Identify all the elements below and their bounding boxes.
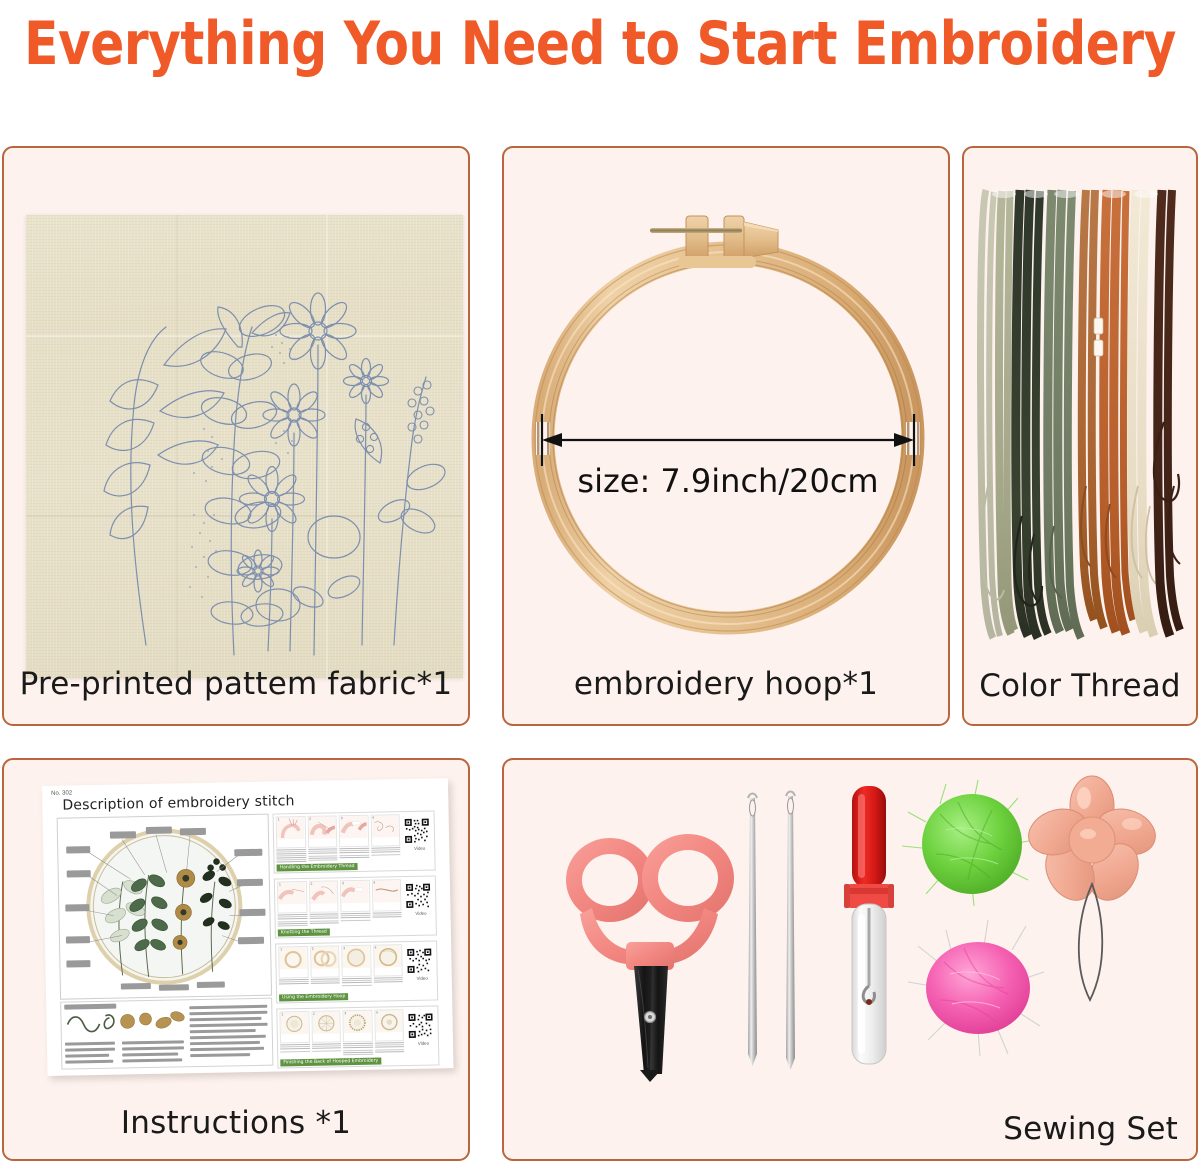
caption-instructions: Instructions *1	[4, 1105, 468, 1141]
skein-dark-olive	[1015, 190, 1049, 638]
tutorial-step-photo: 1	[277, 881, 307, 914]
qr-code[interactable]	[407, 1013, 433, 1039]
tutorial-label: Knotting the Thread	[278, 929, 330, 937]
qr-code[interactable]	[405, 883, 431, 909]
panel-fabric: Pre-printed pattem fabric*1	[2, 146, 470, 726]
skein-sage-light	[981, 190, 1016, 638]
caption-thread: Color Thread	[964, 668, 1196, 704]
tutorial-label: Using the Embroidery Hoop	[279, 993, 348, 1001]
pom-pom-green-icon	[902, 780, 1034, 906]
panel-grid: Pre-printed pattem fabric*1	[0, 144, 1200, 1163]
fabric-swatch	[26, 215, 463, 678]
tutorial-step-photo: 1	[279, 1011, 309, 1044]
tutorial-row: 1 2 3 4	[275, 940, 438, 1003]
tutorial-row: 1 2 3 4	[274, 875, 437, 938]
tutorial-step-photo: 3	[341, 945, 371, 978]
caption-hoop: embroidery hoop*1	[504, 666, 948, 702]
panel-sewing-set: Sewing Set	[502, 758, 1198, 1161]
instruction-sheet: No. 302 Description of embroidery stitch	[42, 778, 453, 1076]
qr-label: Video	[414, 846, 425, 851]
caption-fabric: Pre-printed pattem fabric*1	[4, 666, 468, 702]
tutorial-step-photo: 2	[311, 1010, 341, 1043]
sewing-set-items	[522, 774, 1182, 1090]
needle-icon	[786, 792, 795, 1071]
panel-instructions: No. 302 Description of embroidery stitch	[2, 758, 470, 1161]
tutorial-step-photo: 2	[310, 945, 340, 978]
qr-label: Video	[415, 911, 426, 916]
panel-hoop: size: 7.9inch/20cm embroidery hoop*1	[502, 146, 950, 726]
infographic-page: Everything You Need to Start Embroidery	[0, 0, 1200, 1163]
tutorial-step-photo: 2	[308, 880, 338, 913]
flower-needle-threader-icon	[1023, 776, 1162, 1000]
stitch-map-diagram	[57, 814, 272, 1000]
tutorial-step-photo: 4	[374, 1009, 404, 1042]
tutorial-row: 1 2 3 4	[276, 1005, 439, 1068]
scissors-icon	[566, 834, 734, 1082]
fabric-pattern-artwork	[26, 215, 463, 678]
needle-icon	[748, 794, 757, 1067]
caption-sewing-set: Sewing Set	[1003, 1111, 1178, 1147]
tutorial-step-photo: 3	[342, 1010, 372, 1043]
hoop-dimension-arrow	[542, 414, 914, 466]
tutorial-label: Handling the Embroidery Thread	[277, 863, 358, 872]
qr-label: Video	[418, 1041, 429, 1046]
pom-pom-pink-icon	[908, 920, 1044, 1056]
skein-ivory	[1132, 190, 1156, 636]
qr-code[interactable]	[406, 948, 432, 974]
tutorial-step-photo: 4	[371, 879, 401, 912]
qr-code[interactable]	[404, 818, 430, 844]
stitch-sample-strip	[60, 998, 273, 1070]
skein-gray-green	[1048, 190, 1081, 638]
sheet-title: Description of embroidery stitch	[62, 793, 295, 813]
thread-skeins	[974, 186, 1190, 646]
tutorial-step-photo: 3	[340, 880, 370, 913]
tutorial-step-photo: 1	[278, 946, 308, 979]
tutorial-step-photo: 4	[373, 944, 403, 977]
tutorial-step-photo: 1	[276, 816, 306, 849]
skein-dark-brown	[1154, 190, 1180, 636]
panel-thread: Color Thread	[962, 146, 1198, 726]
seam-ripper-icon	[844, 786, 894, 1064]
hoop-size-label: size: 7.9inch/20cm	[528, 462, 928, 500]
page-title: Everything You Need to Start Embroidery	[42, 0, 1158, 88]
tutorial-column: 1 2 3 4	[273, 810, 440, 1073]
tutorial-label: Finishing the Back of Hooped Embroidery	[280, 1058, 381, 1067]
hoop-illustration: size: 7.9inch/20cm	[528, 170, 928, 640]
qr-label: Video	[417, 976, 428, 981]
tutorial-step-photo: 3	[339, 815, 369, 848]
tutorial-step-photo: 4	[370, 814, 400, 847]
tutorial-step-photo: 2	[307, 815, 337, 848]
tutorial-row: 1 2 3 4	[273, 810, 436, 873]
sheet-number: No. 302	[51, 790, 72, 796]
